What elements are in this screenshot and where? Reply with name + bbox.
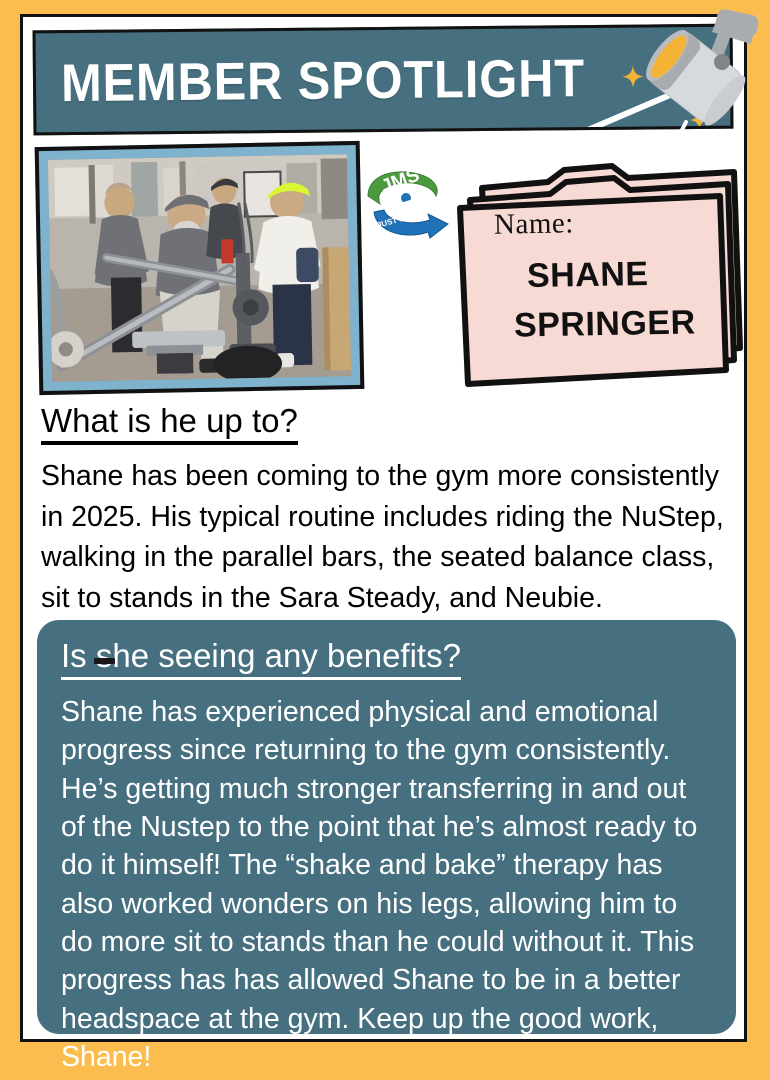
member-last-name: SPRINGER: [514, 303, 696, 345]
heading-struck-letter: s: [96, 638, 113, 675]
member-first-name: SHANE: [527, 255, 649, 296]
page-title: MEMBER SPOTLIGHT: [61, 52, 585, 110]
section-heading: Is she seeing any benefits?: [61, 638, 461, 680]
heading-suffix: he seeing any benefits?: [112, 637, 461, 674]
heading-prefix: Is: [61, 637, 96, 674]
name-label: Name:: [494, 207, 574, 241]
section-benefits: Is she seeing any benefits? Shane has ex…: [37, 620, 736, 1034]
section-body: Shane has been coming to the gym more co…: [41, 456, 731, 619]
name-tag-folder: Name: SHANE SPRINGER: [452, 172, 742, 387]
member-photo-frame: [35, 141, 365, 395]
stage-spotlight-icon: [620, 4, 770, 154]
section-body: Shane has experienced physical and emoti…: [61, 693, 712, 1076]
member-photo: [48, 154, 351, 382]
member-spotlight-flyer: MEMBER SPOTLIGHT: [0, 0, 770, 1080]
section-heading: What is he up to?: [41, 403, 298, 445]
section-what-is-he-up-to: What is he up to? Shane has been coming …: [41, 403, 731, 619]
